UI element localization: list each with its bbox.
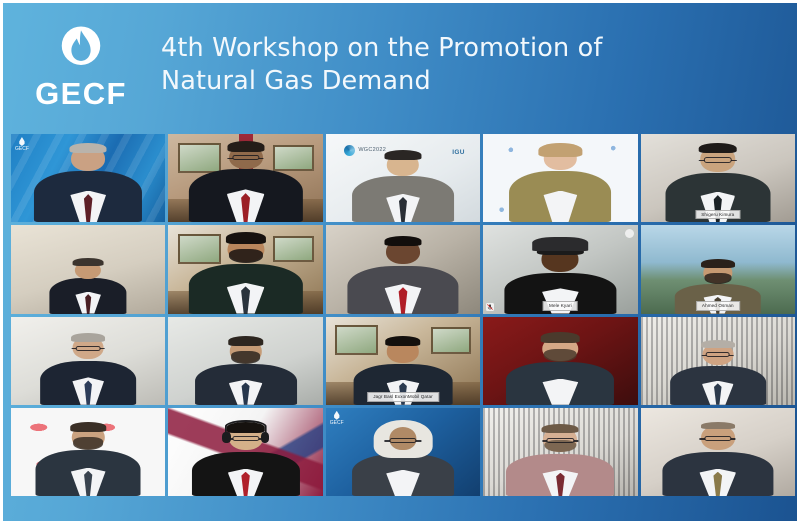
- participant-hair: [70, 422, 106, 432]
- headset-earcup: [222, 432, 231, 442]
- participant-hair: [701, 422, 735, 429]
- participant-beard: [229, 249, 263, 263]
- participant-name-badge: Mele Kyari: [543, 301, 578, 311]
- eyeglasses-icon: [547, 438, 574, 443]
- header-banner: GECF 4th Workshop on the Promotion of Na…: [3, 3, 797, 131]
- eyeglasses-icon: [704, 436, 731, 441]
- video-tile[interactable]: [483, 134, 637, 222]
- participant-name-badge: Jagr Basl ExxonMobil Qatar: [367, 392, 439, 402]
- eyeglasses-icon: [76, 346, 101, 351]
- participant-hair: [385, 336, 421, 346]
- eyeglasses-icon: [232, 155, 259, 160]
- participant-hair: [70, 143, 107, 154]
- participant-figure: [168, 225, 322, 313]
- video-tile[interactable]: WGC2022IGU: [326, 134, 480, 222]
- participant-name-badge: Ahmed Osman: [696, 301, 740, 311]
- participant-hair: [698, 143, 737, 154]
- video-tile[interactable]: GECF: [326, 408, 480, 496]
- headset-icon: [224, 420, 266, 434]
- eyeglasses-icon: [705, 352, 730, 357]
- video-tile[interactable]: [483, 408, 637, 496]
- tile-status-badge: [625, 229, 634, 238]
- video-tile[interactable]: GECF: [11, 134, 165, 222]
- video-tile[interactable]: [483, 317, 637, 405]
- participant-figure: [326, 408, 480, 496]
- video-tile[interactable]: [11, 408, 165, 496]
- video-tile[interactable]: Ahmed Osman: [641, 225, 795, 313]
- participant-figure: [326, 225, 480, 313]
- mic-muted-icon[interactable]: [486, 303, 494, 311]
- video-tile-grid: GECFWGC2022IGUShigeru KimuraMele KyariAh…: [11, 134, 795, 496]
- participant-hair: [384, 150, 421, 160]
- participant-figure: [326, 134, 480, 222]
- participant-figure: [168, 134, 322, 222]
- participant-figure: [11, 408, 165, 496]
- video-tile[interactable]: Jagr Basl ExxonMobil Qatar: [326, 317, 480, 405]
- participant-hair: [228, 336, 264, 346]
- video-tile[interactable]: [641, 317, 795, 405]
- gecf-brand: GECF: [11, 19, 151, 109]
- video-tile[interactable]: [168, 408, 322, 496]
- participant-hair: [539, 143, 582, 157]
- eyeglasses-icon: [389, 438, 416, 443]
- participant-figure: [11, 225, 165, 313]
- video-tile[interactable]: [168, 225, 322, 313]
- title-block: 4th Workshop on the Promotion of Natural…: [161, 32, 602, 101]
- eyeglasses-icon: [232, 436, 259, 441]
- video-tile[interactable]: [168, 317, 322, 405]
- participant-hair: [73, 258, 104, 266]
- participant-figure: [483, 408, 637, 496]
- participant-beard: [231, 351, 261, 363]
- participant-hair: [542, 424, 579, 434]
- video-tile[interactable]: [11, 225, 165, 313]
- participant-figure: [641, 317, 795, 405]
- video-tile[interactable]: [326, 225, 480, 313]
- participant-hair: [701, 259, 735, 268]
- participant-figure: [168, 317, 322, 405]
- participant-beard: [544, 349, 577, 362]
- video-tile[interactable]: Mele Kyari: [483, 225, 637, 313]
- participant-hair: [226, 232, 266, 243]
- participant-hair: [541, 332, 580, 343]
- participant-hair: [384, 236, 421, 246]
- participant-figure: [11, 317, 165, 405]
- participant-figure: [641, 408, 795, 496]
- participant-hair: [227, 141, 264, 152]
- participant-figure: [11, 134, 165, 222]
- video-tile[interactable]: Shigeru Kimura: [641, 134, 795, 222]
- headset-earcup: [261, 432, 270, 442]
- participant-beard: [73, 437, 103, 449]
- participant-cap: [533, 237, 589, 251]
- participant-name-badge: Shigeru Kimura: [695, 210, 740, 220]
- participant-hair: [701, 340, 735, 348]
- participant-figure: [483, 317, 637, 405]
- page-title: 4th Workshop on the Promotion of Natural…: [161, 32, 602, 97]
- video-tile[interactable]: [168, 134, 322, 222]
- video-tile[interactable]: [641, 408, 795, 496]
- participant-hair: [71, 333, 105, 342]
- gecf-wordmark: GECF: [35, 78, 127, 109]
- gas-flame-drop-icon: [53, 19, 109, 75]
- participant-figure: [168, 408, 322, 496]
- video-conference-screen: GECF 4th Workshop on the Promotion of Na…: [0, 0, 800, 524]
- video-tile[interactable]: [11, 317, 165, 405]
- eyeglasses-icon: [704, 157, 732, 163]
- participant-figure: [483, 134, 637, 222]
- participant-beard: [704, 273, 731, 284]
